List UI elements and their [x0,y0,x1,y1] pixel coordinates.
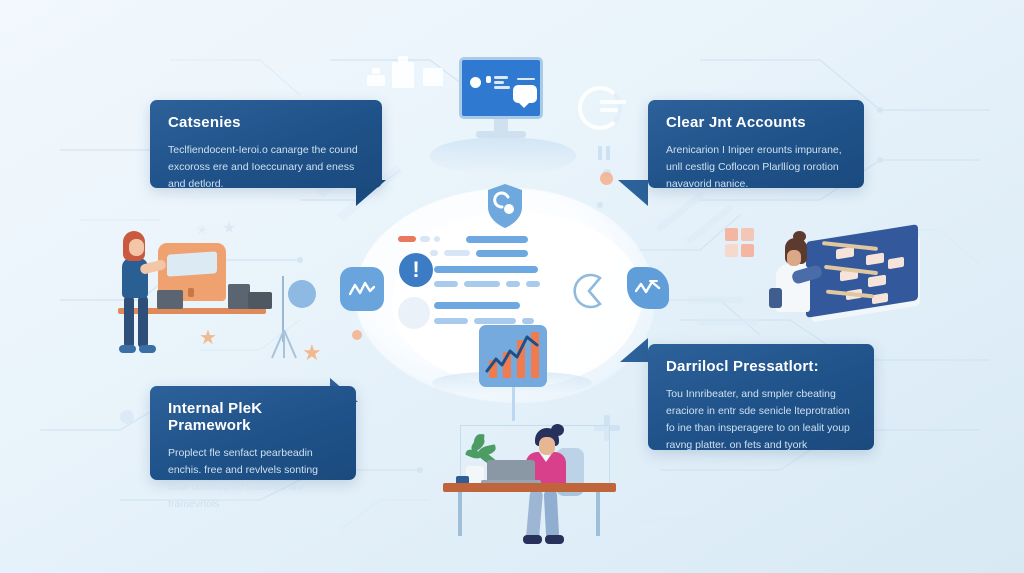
pause-bar-deco-2 [606,146,610,160]
tripod-legs [270,330,310,360]
card-top-left-body: Teclfiendocent-Ieroi.o canarge the cound… [168,142,364,193]
card-bottom-left-body: Proplect fle senfact pearbeadin enchis. … [168,445,338,513]
monitor-line-4 [494,86,510,89]
gauge-label-line [600,100,626,104]
card-top-left-title: Catsenies [168,114,364,131]
orange-node-dot [600,172,613,185]
card-top-right[interactable]: Clear Jnt Accounts Arenicarion I Iniper … [648,100,864,188]
card-bottom-right-title: Darrilocl Pressatlort: [666,358,856,375]
pause-bar-deco [598,146,602,160]
monitor-avatar-dot [470,77,481,88]
chat-bubble-icon [513,85,537,103]
card-bottom-left[interactable]: Internal PleK Pramework Proplect fle sen… [150,386,356,480]
alert-symbol: ! [412,259,419,281]
monitor-shadow [430,138,576,174]
monitor-line-3 [494,81,504,84]
monitor-base [476,131,526,138]
card-bottom-left-title: Internal PleK Pramework [168,400,338,434]
gauge-label-line-2 [600,108,618,112]
monitor-line [486,76,491,83]
card-top-left[interactable]: Catsenies Teclfiendocent-Ieroi.o canarge… [150,100,382,188]
monitor-line-5 [517,78,535,80]
card-top-right-tail [618,180,648,206]
card-bottom-right-body: Tou Innribeater, and smpler cbeating era… [666,386,856,454]
gear-deco-icon: ✳ [196,222,208,239]
camera-head-icon [288,280,316,308]
card-top-right-title: Clear Jnt Accounts [666,114,846,131]
card-top-right-body: Arenicarion I Iniper erounts impurane, u… [666,142,846,193]
alert-icon: ! [399,253,433,287]
illustration-canvas: ★ ★ ★ ✳ ! [0,0,1024,573]
deco-circle-2 [120,410,134,424]
chart-stem [512,387,515,421]
analytics-wave-icon [340,267,384,311]
analytics-trend-icon [627,267,669,309]
monitor-line-2 [494,76,508,79]
avatar-placeholder [398,297,430,329]
star-icon: ★ [199,325,217,350]
grid-squares-icon [725,228,755,258]
growth-chart [479,325,547,387]
orange-node-dot-2 [352,330,362,340]
pie-segment-icon [570,272,608,310]
star-icon-3: ★ [222,218,236,238]
card-bottom-right[interactable]: Darrilocl Pressatlort: Tou Innribeater, … [648,344,874,450]
security-shield-icon [486,183,524,229]
card-bottom-right-tail [620,338,648,362]
